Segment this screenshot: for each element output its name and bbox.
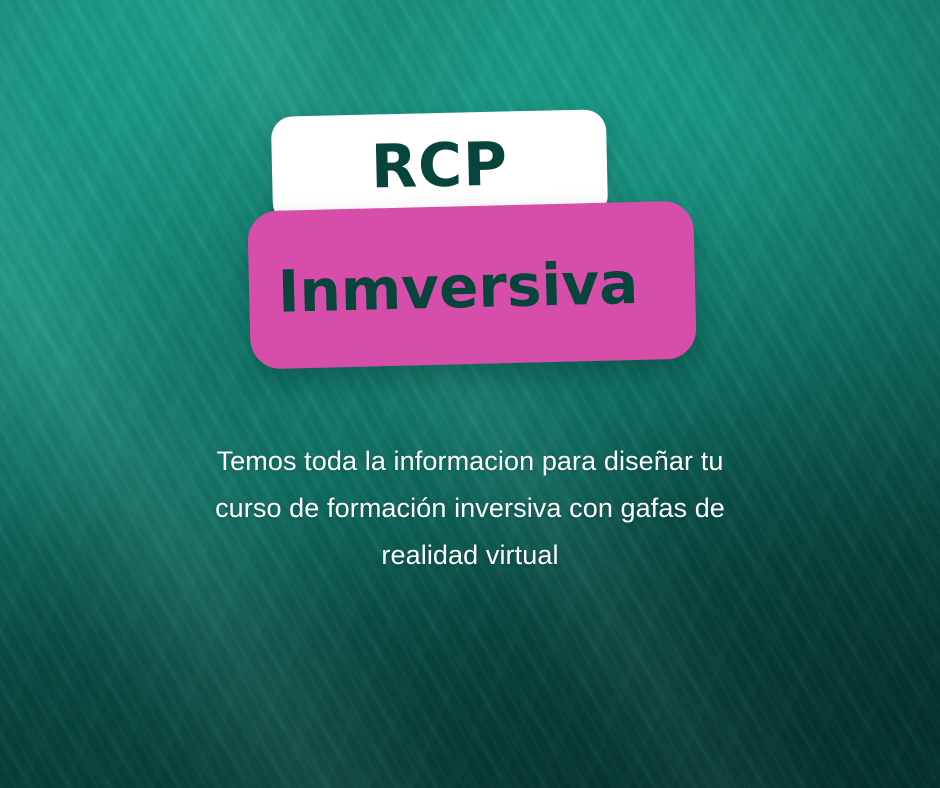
poster-canvas: RCP Inmversiva Temos toda la informacion… bbox=[0, 0, 940, 788]
subtitle-line-1: Temos toda la informacion para diseñar t… bbox=[140, 438, 800, 485]
subtitle-line-3: realidad virtual bbox=[140, 532, 800, 579]
subtitle-line-2: curso de formación inversiva con gafas d… bbox=[140, 485, 800, 532]
subtitle-paragraph: Temos toda la informacion para diseñar t… bbox=[140, 438, 800, 579]
title-card-pink: Inmversiva bbox=[247, 201, 697, 370]
title-block: RCP Inmversiva bbox=[0, 0, 940, 420]
title-secondary-text: Inmversiva bbox=[277, 254, 639, 321]
title-primary-text: RCP bbox=[370, 134, 509, 197]
